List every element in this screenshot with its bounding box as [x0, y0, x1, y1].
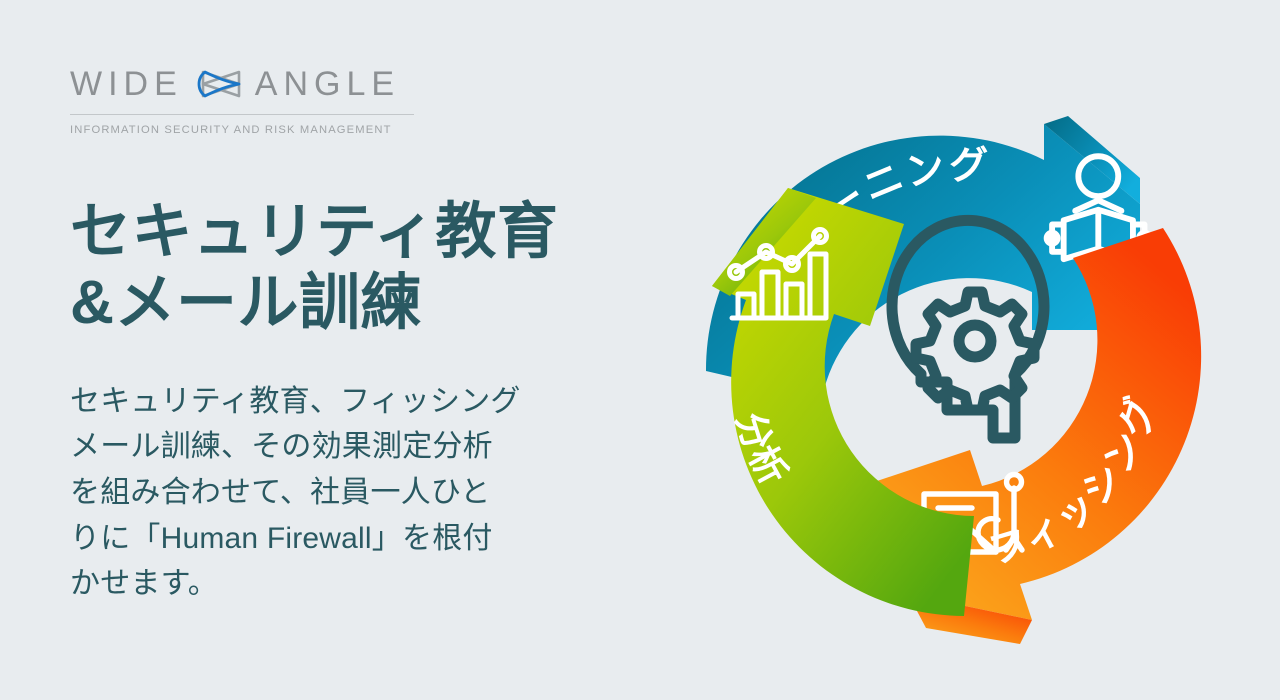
- logo-divider: [70, 114, 414, 115]
- page-title: セキュリティ教育 &メール訓練: [70, 196, 630, 339]
- logo-word-wide: WIDE: [70, 67, 183, 101]
- logo-word-angle: ANGLE: [255, 67, 400, 101]
- bowtie-infinity-mark-icon: [193, 64, 249, 104]
- poster-canvas: WIDE ANGLE INFORMATION SECURITY AND RISK…: [0, 0, 1280, 700]
- page-description: セキュリティ教育、フィッシング メール訓練、その効果測定分析 を組み合わせて、社…: [70, 379, 630, 607]
- page-description-line-4: りに「Human Firewall」を根付: [70, 516, 630, 562]
- page-description-line-2: メール訓練、その効果測定分析: [70, 424, 630, 470]
- page-title-line-1: セキュリティ教育: [70, 196, 630, 267]
- page-description-line-1: セキュリティ教育、フィッシング: [70, 379, 630, 425]
- logo-tagline: INFORMATION SECURITY AND RISK MANAGEMENT: [70, 124, 630, 136]
- brand-logo: WIDE ANGLE INFORMATION SECURITY AND RISK…: [70, 60, 630, 140]
- text-column: WIDE ANGLE INFORMATION SECURITY AND RISK…: [70, 60, 630, 607]
- cycle-diagram: トレーニング: [620, 28, 1260, 674]
- page-title-line-2: &メール訓練: [70, 267, 630, 338]
- logo-wordmark-row: WIDE ANGLE: [70, 60, 630, 108]
- page-description-line-3: を組み合わせて、社員一人ひと: [70, 470, 630, 516]
- page-description-line-5: かせます。: [70, 561, 630, 607]
